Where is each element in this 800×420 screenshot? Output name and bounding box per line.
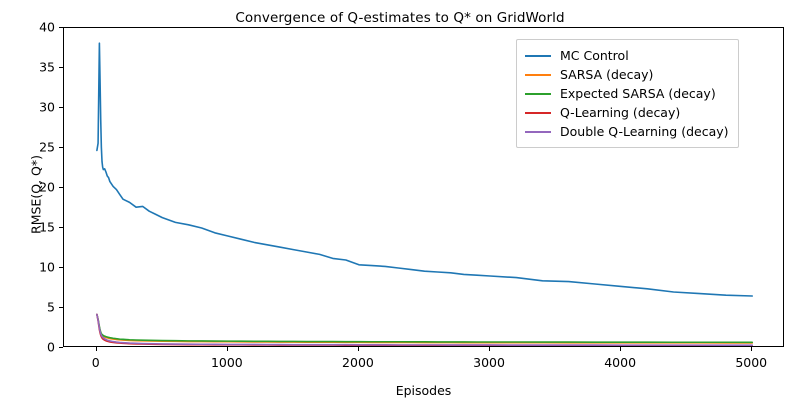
- legend-label: MC Control: [560, 48, 629, 63]
- legend-color-swatch: [525, 74, 551, 76]
- x-tick-mark: [489, 347, 490, 351]
- x-tick-label: 2000: [342, 355, 374, 370]
- legend-item[interactable]: Double Q-Learning (decay): [525, 122, 729, 141]
- series-line: [97, 314, 752, 343]
- x-tick-mark: [96, 347, 97, 351]
- legend-color-swatch: [525, 112, 551, 114]
- x-tick-mark: [227, 347, 228, 351]
- x-tick-mark: [751, 347, 752, 351]
- legend-label: Double Q-Learning (decay): [560, 124, 729, 139]
- y-tick-label: 20: [10, 180, 55, 195]
- x-tick-label: 1000: [211, 355, 243, 370]
- x-axis-label: Episodes: [63, 383, 784, 398]
- y-tick-label: 40: [10, 20, 55, 35]
- legend-label: Q-Learning (decay): [560, 105, 680, 120]
- x-tick-label: 4000: [604, 355, 636, 370]
- chart-title: Convergence of Q-estimates to Q* on Grid…: [0, 10, 800, 26]
- y-tick-label: 10: [10, 260, 55, 275]
- x-tick-label: 5000: [735, 355, 767, 370]
- legend-color-swatch: [525, 131, 551, 133]
- legend-item[interactable]: Q-Learning (decay): [525, 103, 729, 122]
- chart-legend: MC ControlSARSA (decay)Expected SARSA (d…: [516, 39, 739, 148]
- legend-item[interactable]: Expected SARSA (decay): [525, 84, 729, 103]
- y-tick-label: 30: [10, 100, 55, 115]
- legend-item[interactable]: MC Control: [525, 46, 729, 65]
- y-tick-label: 15: [10, 220, 55, 235]
- y-tick-label: 0: [10, 340, 55, 355]
- legend-label: SARSA (decay): [560, 67, 653, 82]
- x-tick-mark: [620, 347, 621, 351]
- legend-item[interactable]: SARSA (decay): [525, 65, 729, 84]
- legend-color-swatch: [525, 55, 551, 57]
- x-tick-label: 3000: [473, 355, 505, 370]
- y-tick-mark: [59, 347, 63, 348]
- chart-figure: Convergence of Q-estimates to Q* on Grid…: [0, 0, 800, 420]
- x-tick-mark: [358, 347, 359, 351]
- legend-color-swatch: [525, 93, 551, 95]
- x-tick-label: 0: [92, 355, 100, 370]
- y-tick-label: 25: [10, 140, 55, 155]
- legend-label: Expected SARSA (decay): [560, 86, 716, 101]
- y-tick-label: 5: [10, 300, 55, 315]
- y-tick-label: 35: [10, 60, 55, 75]
- series-line: [97, 314, 752, 342]
